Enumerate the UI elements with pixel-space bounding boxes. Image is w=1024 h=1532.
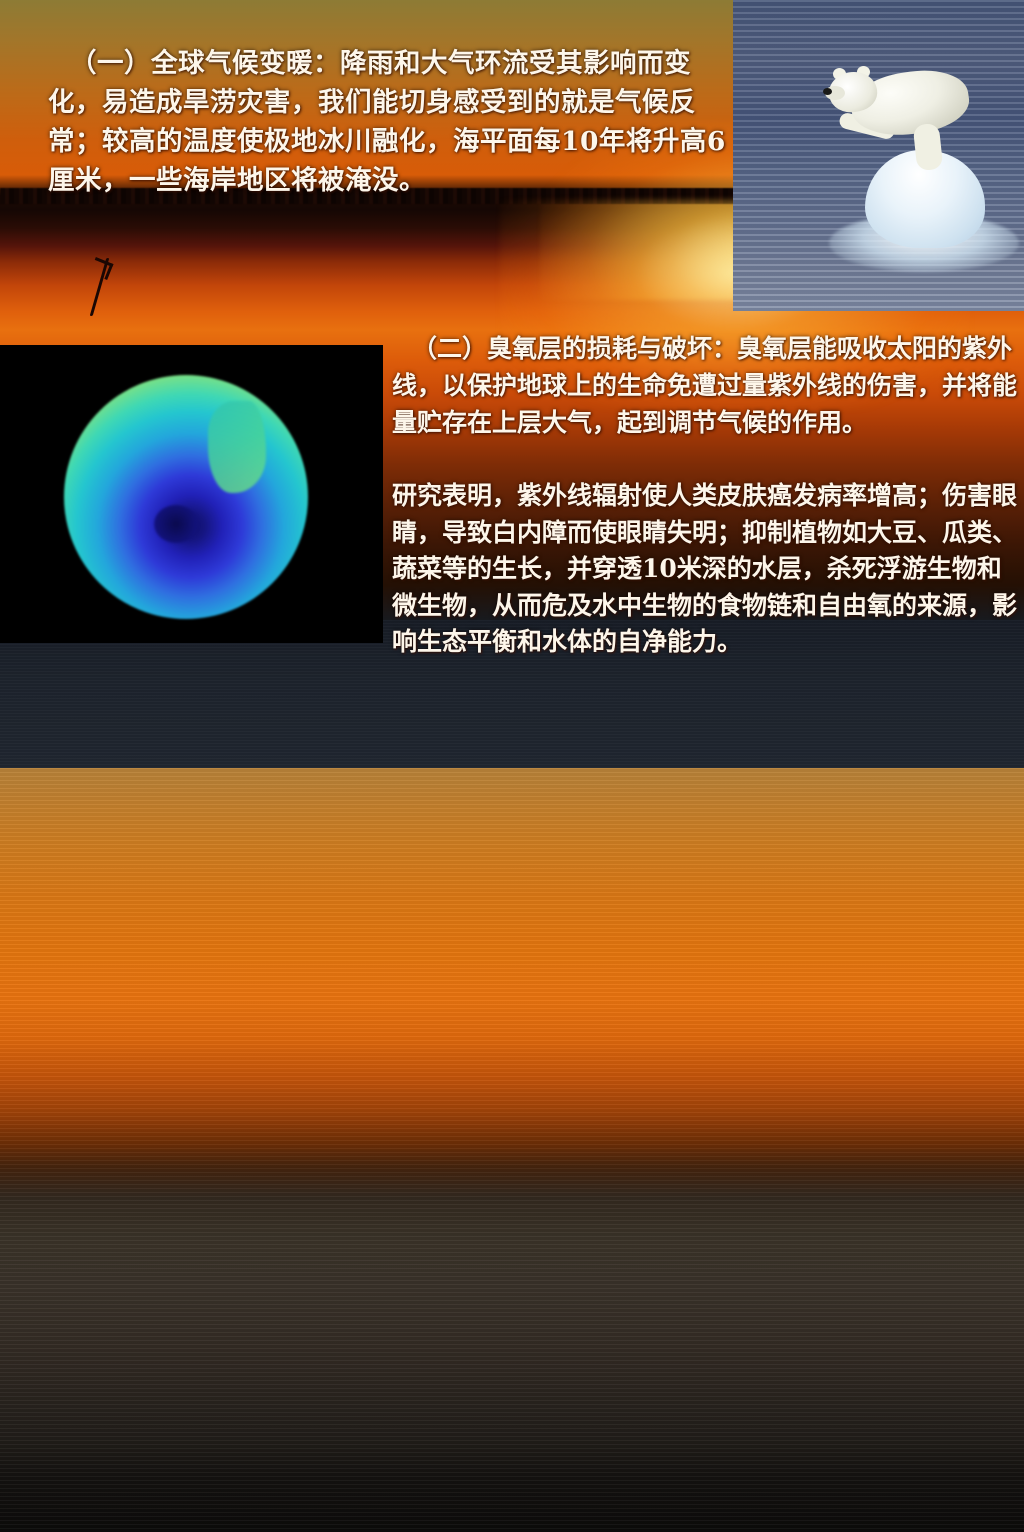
polar-bear-nose <box>823 88 832 95</box>
ozone-continent-overlay <box>208 401 266 493</box>
slideshow-page: （一）全球气候变暖：降雨和大气环流受其影响而变化，易造成旱涝灾害，我们能切身感受… <box>0 0 1024 1532</box>
polar-bear-hindleg <box>913 123 944 171</box>
ozone-hole-photo <box>0 345 383 643</box>
ozone-globe <box>64 375 308 619</box>
ozone-hole-core <box>154 505 198 543</box>
reed-silhouette <box>90 258 116 316</box>
slide-2-biodiversity-acidrain-forest: （三）生物多样性锐减：有关学者估计，世界上每年至少有5万种生物物种灭绝，平均每天… <box>0 768 1024 1532</box>
section-1-paragraph: （一）全球气候变暖：降雨和大气环流受其影响而变化，易造成旱涝灾害，我们能切身感受… <box>48 44 738 200</box>
section-2-paragraph-1: （二）臭氧层的损耗与破坏：臭氧层能吸收太阳的紫外线，以保护地球上的生命免遭过量紫… <box>392 330 1024 441</box>
polar-bear-photo <box>733 0 1024 311</box>
section-2-paragraph-2: 研究表明，紫外线辐射使人类皮肤癌发病率增高；伤害眼睛，导致白内障而使眼睛失明；抑… <box>392 478 1024 661</box>
slide-1-climate-and-ozone: （一）全球气候变暖：降雨和大气环流受其影响而变化，易造成旱涝灾害，我们能切身感受… <box>0 0 1024 768</box>
